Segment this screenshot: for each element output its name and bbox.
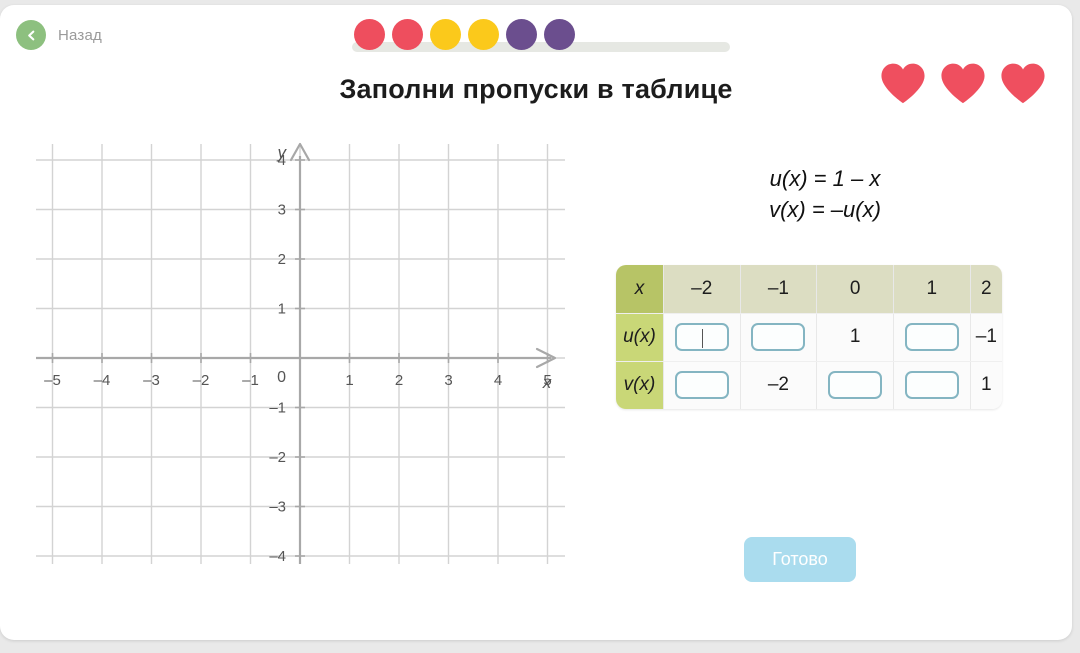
x-axis-label: x (542, 373, 552, 392)
y-tick-label: 2 (278, 251, 286, 268)
table-corner-cell: x (616, 265, 663, 313)
table-cell-value: 1 (970, 361, 1002, 409)
formula-v: v(x) = –u(x) (660, 194, 990, 225)
table-header-cell: 0 (817, 265, 894, 313)
table-cell-input (663, 313, 740, 361)
table-header-cell: 1 (893, 265, 970, 313)
table-header-cell: 2 (970, 265, 1002, 313)
y-tick-label: –1 (269, 400, 286, 417)
table-row: u(x)1–1 (616, 313, 1002, 361)
back-button-label: Назад (58, 27, 102, 44)
x-tick-label: –2 (193, 372, 210, 389)
answer-input-r2-c3[interactable] (828, 371, 882, 399)
y-tick-label: 1 (278, 301, 286, 318)
x-tick-label: 4 (494, 372, 502, 389)
table-row-label: u(x) (616, 313, 663, 361)
y-tick-label: –4 (269, 548, 286, 565)
y-tick-label: –3 (269, 499, 286, 516)
function-definitions: u(x) = 1 – x v(x) = –u(x) (660, 163, 990, 225)
progress-dot-6 (544, 19, 575, 50)
graph-svg: –5–4–3–2–1123454321–1–2–3–40yx (28, 136, 573, 576)
table-cell-value: –1 (970, 313, 1002, 361)
table-row-label: v(x) (616, 361, 663, 409)
formula-u: u(x) = 1 – x (660, 163, 990, 194)
table-cell-value: 1 (817, 313, 894, 361)
table-cell-input (893, 313, 970, 361)
done-button[interactable]: Готово (744, 537, 856, 582)
progress-dot-3 (430, 19, 461, 50)
page-title: Заполни пропуски в таблице (0, 74, 1072, 105)
table-header-cell: –2 (663, 265, 740, 313)
x-tick-label: –4 (94, 372, 111, 389)
table-header-row: x–2–1012 (616, 265, 1002, 313)
origin-label: 0 (277, 369, 286, 386)
answer-input-r1-c4[interactable] (905, 323, 959, 351)
x-tick-label: 1 (345, 372, 353, 389)
progress-dot-5 (506, 19, 537, 50)
answer-input-r1-c2[interactable] (751, 323, 805, 351)
values-table: x–2–1012u(x)1–1v(x)–21 (616, 265, 1002, 409)
chevron-left-icon (16, 20, 46, 50)
answer-input-r2-c4[interactable] (905, 371, 959, 399)
back-button[interactable]: Назад (16, 20, 102, 50)
y-axis-label: y (277, 143, 288, 162)
app-root: Назад Заполни пропуски в таблице –5–4–3–… (0, 0, 1080, 653)
table-cell-input (893, 361, 970, 409)
y-tick-label: 3 (278, 202, 286, 219)
table-cell-input (663, 361, 740, 409)
progress-dot-1 (354, 19, 385, 50)
x-tick-label: 3 (444, 372, 452, 389)
progress-dot-4 (468, 19, 499, 50)
x-tick-label: –3 (143, 372, 160, 389)
table-cell-input (817, 361, 894, 409)
answer-input-r1-c1[interactable] (675, 323, 729, 351)
progress-dot-2 (392, 19, 423, 50)
coordinate-plane: –5–4–3–2–1123454321–1–2–3–40yx (28, 136, 573, 576)
x-tick-label: –5 (44, 372, 61, 389)
x-tick-label: –1 (242, 372, 259, 389)
progress-dots (354, 19, 575, 50)
table-header-cell: –1 (740, 265, 817, 313)
table-cell-value: –2 (740, 361, 817, 409)
y-tick-label: –2 (269, 449, 286, 466)
table-row: v(x)–21 (616, 361, 1002, 409)
x-tick-label: 2 (395, 372, 403, 389)
table-cell-input (740, 313, 817, 361)
answer-input-r2-c1[interactable] (675, 371, 729, 399)
